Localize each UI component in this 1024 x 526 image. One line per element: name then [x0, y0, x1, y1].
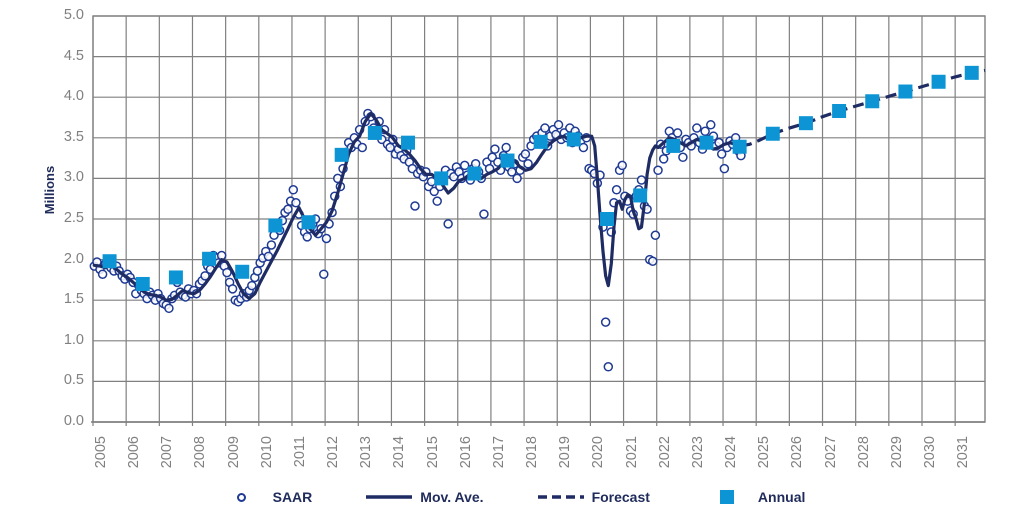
chart-container: Millions 0.00.51.01.52.02.53.03.54.04.55…	[0, 0, 1024, 526]
annual-data-point	[368, 126, 382, 140]
solid-line-glyph	[366, 491, 412, 503]
annual-data-point	[335, 148, 349, 162]
saar-data-point	[660, 155, 668, 163]
saar-data-point	[248, 282, 256, 290]
saar-data-point	[253, 267, 261, 275]
saar-data-point	[229, 285, 237, 293]
annual-data-point	[467, 167, 481, 181]
legend-item-mov-ave[interactable]: Mov. Ave.	[366, 484, 483, 510]
saar-data-point	[513, 174, 521, 182]
legend-label: SAAR	[273, 489, 313, 505]
saar-data-point	[444, 220, 452, 228]
saar-data-point	[267, 241, 275, 249]
legend-spacer	[650, 497, 704, 498]
saar-data-point	[637, 176, 645, 184]
legend-label: Forecast	[592, 489, 650, 505]
annual-data-point	[733, 140, 747, 154]
solid-line-icon	[366, 491, 412, 503]
saar-data-point	[649, 257, 657, 265]
saar-data-point	[555, 121, 563, 129]
saar-data-point	[292, 199, 300, 207]
saar-data-point	[480, 210, 488, 218]
saar-data-point	[654, 166, 662, 174]
saar-data-point	[502, 144, 510, 152]
saar-data-point	[693, 124, 701, 132]
annual-data-point	[832, 104, 846, 118]
annual-data-point	[965, 66, 979, 80]
annual-data-point	[501, 154, 515, 168]
annual-data-point	[799, 116, 813, 130]
annual-data-point	[268, 219, 282, 233]
filled-square-glyph	[720, 490, 734, 504]
annual-data-point	[932, 75, 946, 89]
saar-data-point	[433, 197, 441, 205]
annual-data-point	[666, 139, 680, 153]
legend-label: Mov. Ave.	[420, 489, 483, 505]
annual-data-point	[434, 171, 448, 185]
saar-series	[90, 109, 745, 370]
saar-data-point	[651, 231, 659, 239]
saar-data-point	[541, 124, 549, 132]
saar-data-point	[720, 165, 728, 173]
saar-data-point	[602, 318, 610, 326]
annual-data-point	[567, 132, 581, 146]
saar-data-point	[674, 129, 682, 137]
plot-area	[0, 0, 1024, 526]
saar-data-point	[707, 121, 715, 129]
saar-data-point	[165, 304, 173, 312]
dashed-line-glyph	[538, 491, 584, 503]
saar-data-point	[521, 150, 529, 158]
legend-item-forecast[interactable]: Forecast	[538, 484, 650, 510]
annual-data-point	[534, 135, 548, 149]
legend-item-saar[interactable]: SAAR	[219, 484, 313, 510]
legend-item-annual[interactable]: Annual	[704, 484, 805, 510]
open-circle-glyph	[237, 493, 246, 502]
saar-data-point	[322, 234, 330, 242]
chart-legend: SAARMov. Ave.ForecastAnnual	[0, 482, 1024, 512]
saar-data-point	[320, 270, 328, 278]
annual-data-point	[699, 136, 713, 150]
saar-data-point	[99, 270, 107, 278]
annual-data-point	[302, 215, 316, 229]
saar-data-point	[491, 145, 499, 153]
saar-data-point	[303, 233, 311, 241]
annual-data-point	[401, 136, 415, 150]
legend-label: Annual	[758, 489, 805, 505]
annual-data-point	[898, 85, 912, 99]
annual-data-point	[169, 270, 183, 284]
legend-spacer	[312, 497, 366, 498]
dashed-line-icon	[538, 491, 584, 503]
saar-data-point	[411, 202, 419, 210]
annual-data-point	[202, 252, 216, 266]
saar-data-point	[618, 161, 626, 169]
saar-data-point	[289, 186, 297, 194]
filled-square-marker-icon	[704, 490, 750, 504]
saar-data-point	[679, 153, 687, 161]
open-circle-marker-icon	[219, 493, 265, 502]
saar-data-point	[613, 186, 621, 194]
annual-data-point	[235, 265, 249, 279]
annual-data-point	[103, 254, 117, 268]
saar-data-point	[604, 363, 612, 371]
legend-spacer	[484, 497, 538, 498]
annual-data-point	[600, 212, 614, 226]
annual-data-point	[136, 277, 150, 291]
annual-data-point	[766, 127, 780, 141]
annual-data-point	[865, 94, 879, 108]
annual-data-point	[633, 188, 647, 202]
saar-data-point	[284, 205, 292, 213]
saar-data-point	[358, 144, 366, 152]
